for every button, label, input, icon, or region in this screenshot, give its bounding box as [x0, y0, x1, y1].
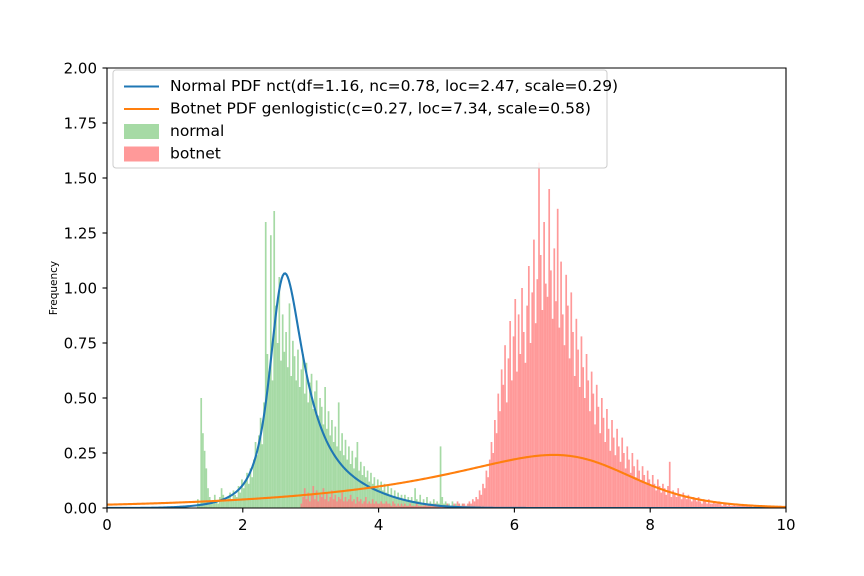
y-tick-label: 1.50: [64, 170, 97, 188]
histogram-bar: [370, 504, 372, 508]
histogram-bar: [367, 504, 369, 508]
histogram-bar: [392, 501, 394, 508]
histogram-bar: [345, 497, 347, 508]
histogram-bar: [289, 303, 291, 508]
histogram-bar: [615, 455, 617, 508]
histogram-bar: [511, 380, 513, 508]
histogram-bar: [312, 486, 314, 508]
histogram-bar: [440, 446, 442, 508]
histogram-bar: [324, 387, 326, 508]
histogram-bar: [543, 222, 545, 508]
histogram-bar: [348, 446, 350, 508]
histogram-bar: [591, 372, 593, 508]
histogram-bar: [370, 473, 372, 508]
histogram-bar: [643, 475, 645, 508]
histogram-bar: [535, 323, 537, 508]
histogram-bar: [326, 493, 328, 508]
histogram-bar: [306, 499, 308, 508]
histogram-bar: [526, 306, 528, 508]
histogram-bar: [480, 495, 482, 508]
histogram-bar: [365, 497, 367, 508]
histogram-bar: [282, 314, 284, 508]
histogram-bar: [377, 504, 379, 508]
histogram-bar: [390, 488, 392, 508]
histogram-bar: [212, 504, 214, 508]
histogram-bar: [620, 462, 622, 508]
histogram-bar: [350, 495, 352, 508]
histogram-bar: [355, 504, 357, 508]
histogram-bar: [360, 499, 362, 508]
histogram-bar: [638, 471, 640, 508]
histogram-bar: [584, 398, 586, 508]
histogram-bar: [579, 387, 581, 508]
chart-plot: 02468100.000.250.500.751.001.251.501.752…: [0, 0, 864, 576]
histogram-bar: [487, 477, 489, 508]
histogram-bar: [348, 499, 350, 508]
histogram-bar: [368, 501, 370, 508]
x-tick-label: 8: [645, 516, 655, 534]
histogram-bar: [357, 497, 359, 508]
pdf-curve-nct: [107, 273, 786, 508]
histogram-bar: [409, 504, 411, 508]
histogram-bar: [514, 299, 516, 508]
legend-label: normal: [170, 122, 224, 140]
figure-canvas: 02468100.000.250.500.751.001.251.501.752…: [0, 0, 864, 576]
histogram-bar: [560, 262, 562, 508]
legend: Normal PDF nct(df=1.16, nc=0.78, loc=2.4…: [113, 70, 618, 168]
histogram-bar: [341, 493, 343, 508]
histogram-bar: [674, 493, 676, 508]
histogram-bar: [519, 354, 521, 508]
y-tick-label: 1.75: [64, 115, 97, 133]
histogram-bar: [679, 495, 681, 508]
histogram-bar: [608, 429, 610, 508]
histogram-bar: [800, 506, 802, 508]
histogram-bar: [479, 490, 481, 508]
y-tick-label: 0.50: [64, 390, 97, 408]
histogram-bar: [489, 460, 491, 508]
histogram-bar: [686, 499, 688, 508]
histogram-bar: [660, 493, 662, 508]
histogram-bar: [287, 367, 289, 508]
histogram-bar: [221, 488, 223, 508]
histogram-bar: [567, 306, 569, 508]
histogram-bar: [570, 292, 572, 508]
histogram-bar: [338, 497, 340, 508]
histogram-bar: [379, 504, 381, 508]
histogram-bar: [501, 369, 503, 508]
histogram-bar: [314, 499, 316, 508]
histogram-bar: [374, 504, 376, 508]
histogram-bar: [333, 499, 335, 508]
histogram-bar: [329, 497, 331, 508]
histogram-bar: [358, 501, 360, 508]
histogram-bar: [635, 477, 637, 508]
y-tick-label: 0.75: [64, 335, 97, 353]
histogram-bar: [482, 484, 484, 508]
x-tick-label: 0: [102, 516, 112, 534]
histogram-bar: [367, 471, 369, 508]
legend-item[interactable]: Botnet PDF genlogistic(c=0.27, loc=7.34,…: [124, 100, 591, 118]
histogram-bar: [559, 328, 561, 508]
histogram-bar: [499, 411, 501, 508]
histogram-bar: [372, 499, 374, 508]
histogram-bar: [598, 407, 600, 508]
histogram-bar: [243, 488, 245, 508]
histogram-bar: [613, 438, 615, 508]
histogram-bar: [245, 482, 247, 508]
histogram-bar: [394, 504, 396, 508]
histogram-bar: [618, 446, 620, 508]
histogram-bar: [637, 460, 639, 508]
histogram-bar: [525, 363, 527, 508]
histogram-bar: [521, 288, 523, 508]
histogram-bar: [204, 451, 206, 508]
histogram-bar: [265, 222, 267, 508]
histogram-bar: [667, 486, 669, 508]
histogram-bar: [569, 358, 571, 508]
histogram-bar: [553, 248, 555, 508]
histogram-bar: [256, 455, 258, 508]
histogram-bar: [351, 451, 353, 508]
histogram-bar: [299, 387, 301, 508]
histogram-bar: [387, 504, 389, 508]
histogram-bar: [665, 495, 667, 508]
y-tick-label: 1.00: [64, 280, 97, 298]
histogram-bar: [642, 466, 644, 508]
histogram-bar: [414, 488, 416, 508]
histogram-bar: [397, 504, 399, 508]
histogram-bar: [506, 402, 508, 508]
histogram-bar: [508, 358, 510, 508]
histogram-bar: [632, 453, 634, 508]
histogram-bar: [275, 306, 277, 508]
histogram-bar: [536, 279, 538, 508]
histogram-bar: [363, 501, 365, 508]
histogram-bar: [311, 495, 313, 508]
histogram-bar: [321, 497, 323, 508]
histogram-bar: [284, 352, 286, 508]
histogram-bar: [226, 501, 228, 508]
legend-item[interactable]: normal: [124, 122, 224, 140]
histogram-bar: [340, 499, 342, 508]
histogram-bar: [630, 473, 632, 508]
histogram-bar: [842, 506, 844, 508]
legend-label: Botnet PDF genlogistic(c=0.27, loc=7.34,…: [170, 100, 591, 118]
histogram-bar: [640, 482, 642, 508]
histogram-bar: [581, 336, 583, 508]
legend-patch-swatch: [124, 124, 159, 139]
histogram-bar: [385, 501, 387, 508]
histogram-bar: [528, 266, 530, 508]
histogram-bar: [301, 369, 303, 508]
histogram-bar: [587, 380, 589, 508]
histogram-bar: [599, 433, 601, 508]
histogram-bar: [594, 424, 596, 508]
histogram-bar: [626, 446, 628, 508]
histogram-bar: [564, 345, 566, 508]
histogram-bar: [694, 499, 696, 508]
histogram-bar: [324, 499, 326, 508]
histogram-bar: [586, 354, 588, 508]
histogram-bar: [647, 471, 649, 508]
histogram-bar: [309, 383, 311, 508]
histogram-bar: [416, 504, 418, 508]
histogram-bar: [380, 501, 382, 508]
histogram-bar: [374, 477, 376, 508]
histogram-bar: [492, 453, 494, 508]
histogram-bar: [316, 380, 318, 508]
histogram-bar: [217, 504, 219, 508]
histogram-bar: [609, 451, 611, 508]
histogram-bar: [307, 402, 309, 508]
histogram-bar: [319, 495, 321, 508]
histogram-bar: [343, 455, 345, 508]
histogram-bar: [633, 466, 635, 508]
histogram-bar: [351, 501, 353, 508]
histogram-bar: [272, 380, 274, 508]
histogram-bar: [577, 350, 579, 508]
histogram-bar: [596, 385, 598, 508]
histogram-bar: [202, 433, 204, 508]
histogram-bar: [294, 356, 296, 508]
histogram-bar: [234, 495, 236, 508]
histogram-bar: [334, 495, 336, 508]
histogram-bar: [689, 499, 691, 508]
legend-item[interactable]: Normal PDF nct(df=1.16, nc=0.78, loc=2.4…: [124, 77, 618, 95]
histogram-bar: [545, 284, 547, 508]
histogram-bar: [290, 376, 292, 508]
histogram-bar: [669, 462, 671, 508]
histogram-bar: [540, 255, 542, 508]
histogram-bar: [548, 189, 550, 508]
histogram-bar: [523, 332, 525, 508]
histogram-bar: [228, 497, 230, 508]
x-tick-label: 6: [510, 516, 520, 534]
histogram-bar: [336, 501, 338, 508]
histogram-bar: [273, 211, 275, 508]
histogram-bar: [650, 486, 652, 508]
histogram-bar: [552, 319, 554, 508]
histogram-bar: [278, 277, 280, 508]
histogram-bar: [677, 488, 679, 508]
histogram-bar: [518, 314, 520, 508]
histogram-bar: [557, 209, 559, 508]
histogram-bar: [306, 363, 308, 508]
histogram-bar: [197, 499, 199, 508]
histogram-bar: [404, 504, 406, 508]
histogram-bar: [295, 380, 297, 508]
y-tick-label: 0.25: [64, 445, 97, 463]
histogram-bar: [302, 354, 304, 508]
histogram-bar: [574, 376, 576, 508]
histogram-bar: [375, 501, 377, 508]
histogram-bar: [533, 240, 535, 508]
plot-area: [107, 163, 844, 508]
histogram-bar: [319, 398, 321, 508]
histogram-bar: [550, 270, 552, 508]
y-tick-label: 0.00: [64, 500, 97, 518]
histogram-bar: [355, 457, 357, 508]
histogram-bar: [362, 504, 364, 508]
histogram-bar: [382, 504, 384, 508]
histogram-bar: [301, 504, 303, 508]
histogram-bar: [248, 484, 250, 508]
histogram-bar: [343, 501, 345, 508]
y-tick-label: 2.00: [64, 60, 97, 78]
histogram-bar: [503, 385, 505, 508]
histogram-bar: [504, 345, 506, 508]
histogram-bar: [285, 332, 287, 508]
histogram-bar: [317, 501, 319, 508]
histogram-bar: [509, 321, 511, 508]
histogram-bar: [671, 497, 673, 508]
histogram-bar: [628, 460, 630, 508]
histogram-bar: [606, 409, 608, 508]
histogram-bar: [645, 484, 647, 508]
histogram-bar: [542, 310, 544, 508]
histogram-bar: [323, 488, 325, 508]
x-tick-label: 2: [238, 516, 248, 534]
histogram-bar: [236, 497, 238, 508]
histogram-bar: [346, 501, 348, 508]
histogram-bar: [277, 343, 279, 508]
histogram-bar: [662, 484, 664, 508]
histogram-bar: [292, 341, 294, 508]
histogram-bar: [200, 398, 202, 508]
histogram-bar: [304, 488, 306, 508]
histogram-bar: [336, 446, 338, 508]
histogram-bar: [384, 504, 386, 508]
legend-label: botnet: [170, 145, 221, 163]
histogram-bar: [576, 319, 578, 508]
histogram-bar: [603, 418, 605, 508]
histogram-bar: [572, 332, 574, 508]
histogram-bar: [346, 460, 348, 508]
histogram-bar: [655, 490, 657, 508]
histogram-bar: [652, 475, 654, 508]
histogram-bar: [657, 479, 659, 508]
y-axis-title: Frequency: [48, 261, 60, 315]
histogram-bar: [475, 497, 477, 508]
legend-patch-swatch: [124, 147, 159, 162]
histogram-bar: [268, 372, 270, 508]
histogram-bar: [676, 497, 678, 508]
histogram-bar: [297, 350, 299, 508]
histogram-bar: [604, 442, 606, 508]
histogram-bar: [496, 433, 498, 508]
legend-label: Normal PDF nct(df=1.16, nc=0.78, loc=2.4…: [170, 77, 618, 95]
histogram-bar: [513, 336, 515, 508]
histogram-bar: [491, 442, 493, 508]
histogram-bar: [309, 501, 311, 508]
histogram-bar: [547, 297, 549, 508]
histogram-bar: [280, 361, 282, 508]
y-tick-label: 1.25: [64, 225, 97, 243]
histogram-bar: [684, 497, 686, 508]
histogram-bar: [389, 504, 391, 508]
legend-item[interactable]: botnet: [124, 145, 221, 163]
histogram-bar: [484, 488, 486, 508]
histogram-bar: [681, 499, 683, 508]
histogram-bar: [302, 497, 304, 508]
histogram-bar: [531, 292, 533, 508]
histogram-bar: [516, 372, 518, 508]
histogram-bar: [530, 343, 532, 508]
x-tick-label: 4: [374, 516, 384, 534]
histogram-bar: [486, 471, 488, 508]
histogram-bar: [328, 501, 330, 508]
histogram-bar: [565, 275, 567, 508]
histogram-bar: [616, 429, 618, 508]
histogram-bar: [555, 301, 557, 508]
x-tick-label: 10: [776, 516, 795, 534]
histogram-bar: [251, 477, 253, 508]
histogram-bar: [219, 497, 221, 508]
histogram-bar: [401, 504, 403, 508]
histogram-bar: [207, 488, 209, 508]
histogram-bar: [362, 475, 364, 508]
histogram-bar: [601, 398, 603, 508]
histogram-bar: [611, 420, 613, 508]
histogram-bar: [497, 394, 499, 508]
histogram-bar: [592, 394, 594, 508]
histogram-bar: [582, 367, 584, 508]
histogram-bar: [623, 453, 625, 508]
histogram-bar: [562, 314, 564, 508]
histogram-bar: [353, 499, 355, 508]
